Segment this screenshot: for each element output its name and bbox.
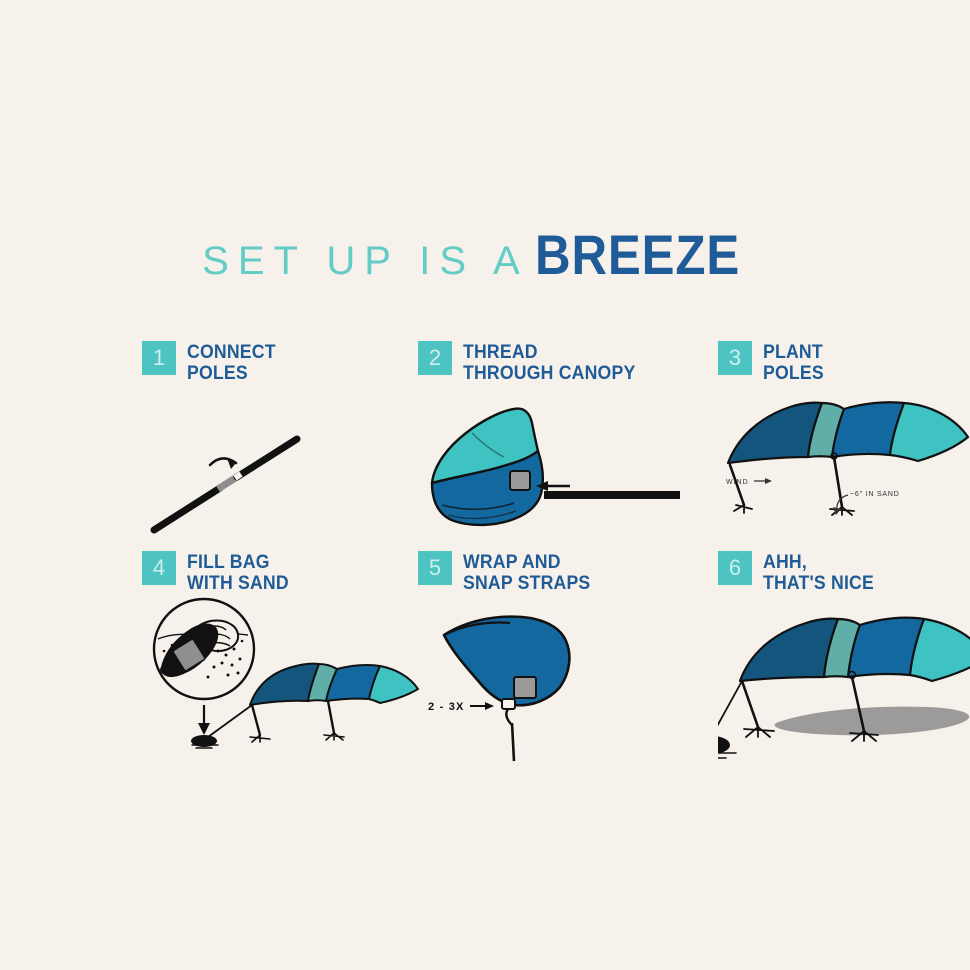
sand-depth-label: ~6" IN SAND	[850, 491, 900, 498]
title-light-part: SET UP IS A	[202, 239, 529, 283]
step-2: 2 THREAD THROUGH CANOPY	[418, 341, 708, 561]
wrap-and-snap-straps-illustration: 2 - 3X	[418, 595, 708, 771]
step-5-header: 5 WRAP AND SNAP STRAPS	[418, 551, 600, 595]
step-2-header: 2 THREAD THROUGH CANOPY	[418, 341, 648, 385]
step-5-number-badge: 5	[418, 551, 452, 585]
step-4-header: 4 FILL BAG WITH SAND	[142, 551, 296, 595]
step-6-header: 6 AHH, THAT'S NICE	[718, 551, 882, 595]
plant-poles-illustration: WIND ~6" IN SAND	[718, 385, 970, 561]
step-1: 1 CONNECT POLES	[142, 341, 432, 561]
connect-poles-illustration	[142, 385, 432, 561]
step-5-label: WRAP AND SNAP STRAPS	[463, 551, 590, 595]
fill-bag-with-sand-illustration	[142, 595, 432, 771]
title-bold-part: BREEZE	[535, 222, 740, 287]
step-2-number-badge: 2	[418, 341, 452, 375]
step-4-number-badge: 4	[142, 551, 176, 585]
step-3-header: 3 PLANT POLES	[718, 341, 828, 385]
step-4: 4 FILL BAG WITH SAND	[142, 551, 432, 771]
setup-instructions-infographic: SET UP IS ABREEZE 1 CONNECT POLES	[0, 0, 970, 970]
finished-canopy-illustration	[718, 595, 970, 771]
step-3-number-badge: 3	[718, 341, 752, 375]
step-3-label: PLANT POLES	[763, 341, 824, 385]
step-6-number-badge: 6	[718, 551, 752, 585]
step-1-header: 1 CONNECT POLES	[142, 341, 282, 385]
page-title: SET UP IS ABREEZE	[0, 222, 970, 287]
step-1-label: CONNECT POLES	[187, 341, 276, 385]
step-5: 5 WRAP AND SNAP STRAPS 2 - 3X	[418, 551, 708, 771]
wrap-count-label: 2 - 3X	[428, 701, 465, 713]
step-1-number-badge: 1	[142, 341, 176, 375]
step-3: 3 PLANT POLES WI	[718, 341, 970, 561]
wind-direction-label: WIND	[726, 479, 749, 486]
thread-through-canopy-illustration	[418, 385, 708, 561]
step-6-label: AHH, THAT'S NICE	[763, 551, 874, 595]
step-2-label: THREAD THROUGH CANOPY	[463, 341, 635, 385]
step-4-label: FILL BAG WITH SAND	[187, 551, 289, 595]
step-6: 6 AHH, THAT'S NICE	[718, 551, 970, 771]
